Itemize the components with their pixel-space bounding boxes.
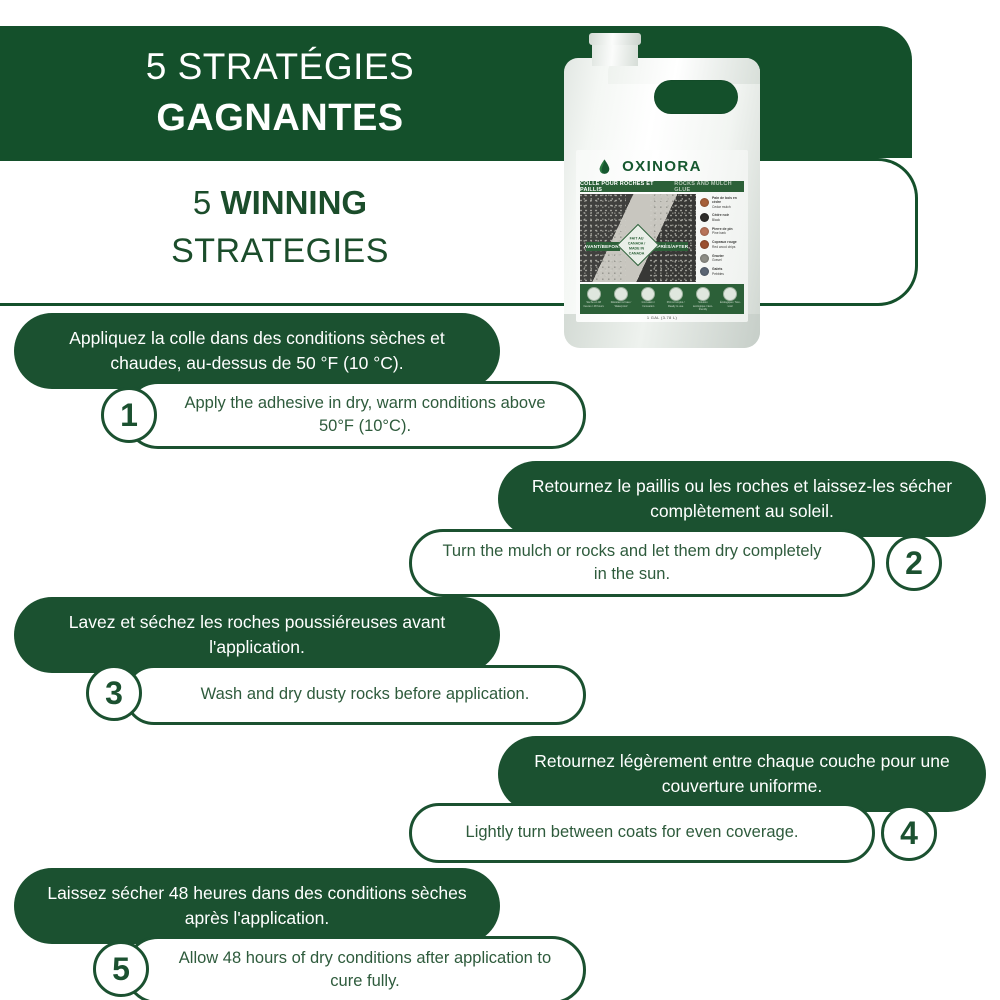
swatch-name-en: Red wood chips [712, 245, 735, 249]
swatch-name-en: Gravel [712, 258, 722, 262]
step-3-text-en: Wash and dry dusty rocks before applicat… [124, 665, 586, 725]
swatch-name-en: Pebbles [712, 272, 724, 276]
swatch-name-en: Cedar mulch [712, 205, 731, 209]
feature-caption: Sèche en 48 heures / 48 hours [583, 301, 605, 312]
bottle-tagline-bar: COLLE POUR ROCHES ET PAILLIS ROCKS AND M… [580, 181, 744, 192]
bottle-before-after-photo: AVANT/BEFORE APRÈS/AFTER FAIT AU CANADA … [580, 194, 696, 282]
made-in-canada-text: FAIT AU CANADA / MADE IN CANADA [623, 236, 651, 256]
product-bottle-image: OXINORA COLLE POUR ROCHES ET PAILLIS ROC… [556, 28, 768, 350]
header-green-banner [0, 26, 912, 158]
step-1-number: 1 [101, 387, 157, 443]
swatch-row: Cèdre noirBlack [700, 213, 746, 222]
feature-caption: Résistant à l'eau / Waterproof [610, 301, 632, 312]
bottle-cap [589, 33, 641, 45]
feature-icon-eco [696, 287, 710, 301]
feature-icon-ready-to-use [669, 287, 683, 301]
step-2-number: 2 [886, 535, 942, 591]
photo-before-tag: AVANT/BEFORE [586, 242, 620, 251]
feature-caption: Écologique / Non-toxic [719, 301, 741, 312]
swatch-name-en: Pine bark [712, 231, 726, 235]
swatch-label: Pain de bois en cèdreCedar mulch [712, 196, 746, 209]
step-5-text-en: Allow 48 hours of dry conditions after a… [124, 936, 586, 1000]
swatch-row: GaletsPebbles [700, 267, 746, 276]
gravel-texture-left [580, 194, 626, 282]
swatch-name-fr: Pain de bois en cèdre [712, 196, 746, 205]
bottle-tagline-fr: COLLE POUR ROCHES ET PAILLIS [580, 181, 670, 193]
swatch-label: Pierre de pinPine bark [712, 227, 733, 235]
step-1-text-en: Apply the adhesive in dry, warm conditio… [124, 381, 586, 449]
infographic-canvas: 5 STRATÉGIES GAGNANTES 5 WINNING STRATEG… [0, 0, 1000, 1000]
swatch-row: GravierGravel [700, 254, 746, 263]
bottle-volume: 1 GAL (3.78 L) [576, 315, 748, 320]
step-3-text-fr: Lavez et séchez les roches poussiéreuses… [14, 597, 500, 673]
swatch-dot [700, 198, 709, 207]
swatch-name-en: Black [712, 218, 720, 222]
gravel-texture-right [650, 194, 696, 282]
swatch-label: Cèdre noirBlack [712, 213, 729, 221]
title-en-line2: STRATEGIES [0, 230, 560, 274]
feature-icon-drying [587, 287, 601, 301]
bottle-label: OXINORA COLLE POUR ROCHES ET PAILLIS ROC… [576, 150, 748, 322]
swatch-row: Pain de bois en cèdreCedar mulch [700, 196, 746, 209]
step-2-text-fr: Retournez le paillis ou les roches et la… [498, 461, 986, 537]
swatch-label: GaletsPebbles [712, 267, 724, 275]
step-4-text-fr: Retournez légèrement entre chaque couche… [498, 736, 986, 812]
bottle-handle-cutout [654, 80, 738, 114]
bottle-feature-footer: Sèche en 48 heures / 48 hours Résistant … [580, 284, 744, 314]
feature-caption: Prêt à l'emploi / Ready to use [665, 301, 687, 312]
swatch-dot [700, 213, 709, 222]
feature-icon-innovation [641, 287, 655, 301]
title-en-prefix: 5 [193, 184, 221, 221]
feature-icon-nontoxic [723, 287, 737, 301]
swatch-label: GravierGravel [712, 254, 724, 262]
feature-icon-waterproof [614, 287, 628, 301]
title-en-line1: 5 WINNING [0, 182, 560, 224]
swatch-dot [700, 267, 709, 276]
bottle-brand-name: OXINORA [576, 158, 748, 175]
swatch-dot [700, 240, 709, 249]
step-3-number: 3 [86, 665, 142, 721]
bottle-tagline-en: ROCKS AND MULCH GLUE [674, 181, 744, 193]
feature-caption: Innovation / Innovation [637, 301, 659, 312]
swatch-row: Copeaux rougeRed wood chips [700, 240, 746, 249]
bottle-color-swatches: Pain de bois en cèdreCedar mulch Cèdre n… [700, 196, 746, 281]
swatch-dot [700, 254, 709, 263]
step-1-text-fr: Appliquez la colle dans des conditions s… [14, 313, 500, 389]
swatch-label: Copeaux rougeRed wood chips [712, 240, 737, 248]
swatch-row: Pierre de pinPine bark [700, 227, 746, 236]
step-2-text-en: Turn the mulch or rocks and let them dry… [409, 529, 875, 597]
bottle-feature-icons [580, 287, 744, 301]
photo-after-tag: APRÈS/AFTER [654, 242, 688, 251]
swatch-dot [700, 227, 709, 236]
bottle-feature-captions: Sèche en 48 heures / 48 hours Résistant … [580, 301, 744, 312]
title-en-bold: WINNING [220, 184, 367, 221]
step-5-number: 5 [93, 941, 149, 997]
feature-caption: Solution écologique / Eco-friendly [692, 301, 714, 312]
step-5-text-fr: Laissez sécher 48 heures dans des condit… [14, 868, 500, 944]
step-4-number: 4 [881, 805, 937, 861]
step-4-text-en: Lightly turn between coats for even cove… [409, 803, 875, 863]
page-title-english: 5 WINNING STRATEGIES [0, 182, 560, 274]
